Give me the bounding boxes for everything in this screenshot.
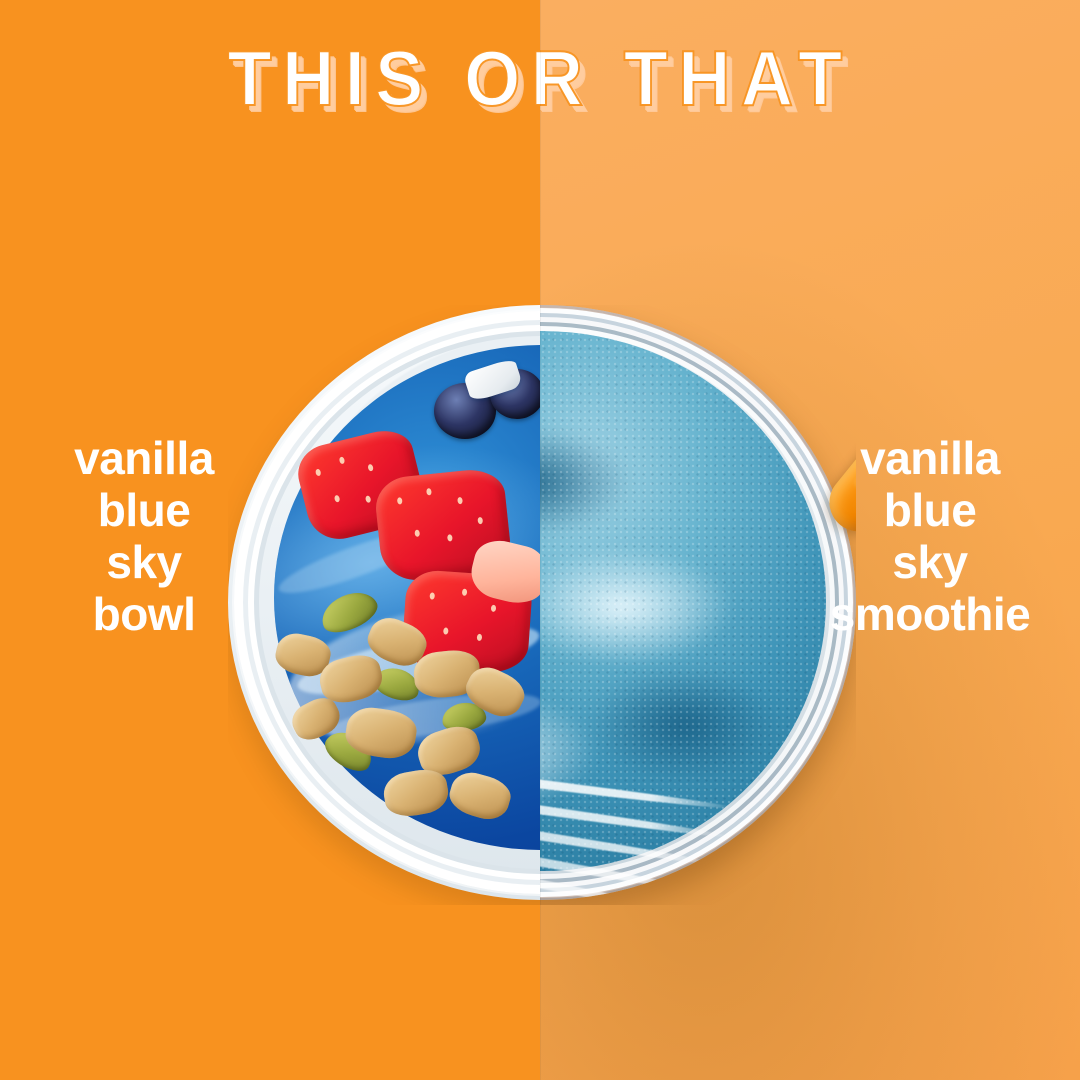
right-label-line-1: vanilla [780,432,1080,484]
split-product-photo [228,305,856,905]
right-label-line-2: blue [780,484,1080,536]
left-label-line-1: vanilla [0,432,294,484]
left-label-line-2: blue [0,484,294,536]
left-label-line-3: sky [0,536,294,588]
right-label-line-3: sky [780,536,1080,588]
right-label-line-4: smoothie [780,588,1080,640]
left-label-line-4: bowl [0,588,294,640]
right-product-label: vanilla blue sky smoothie [780,432,1080,640]
poster-canvas: THIS OR THAT THIS OR THAT [0,0,1080,1080]
left-product-label: vanilla blue sky bowl [0,432,294,640]
split-seam [540,0,541,1080]
